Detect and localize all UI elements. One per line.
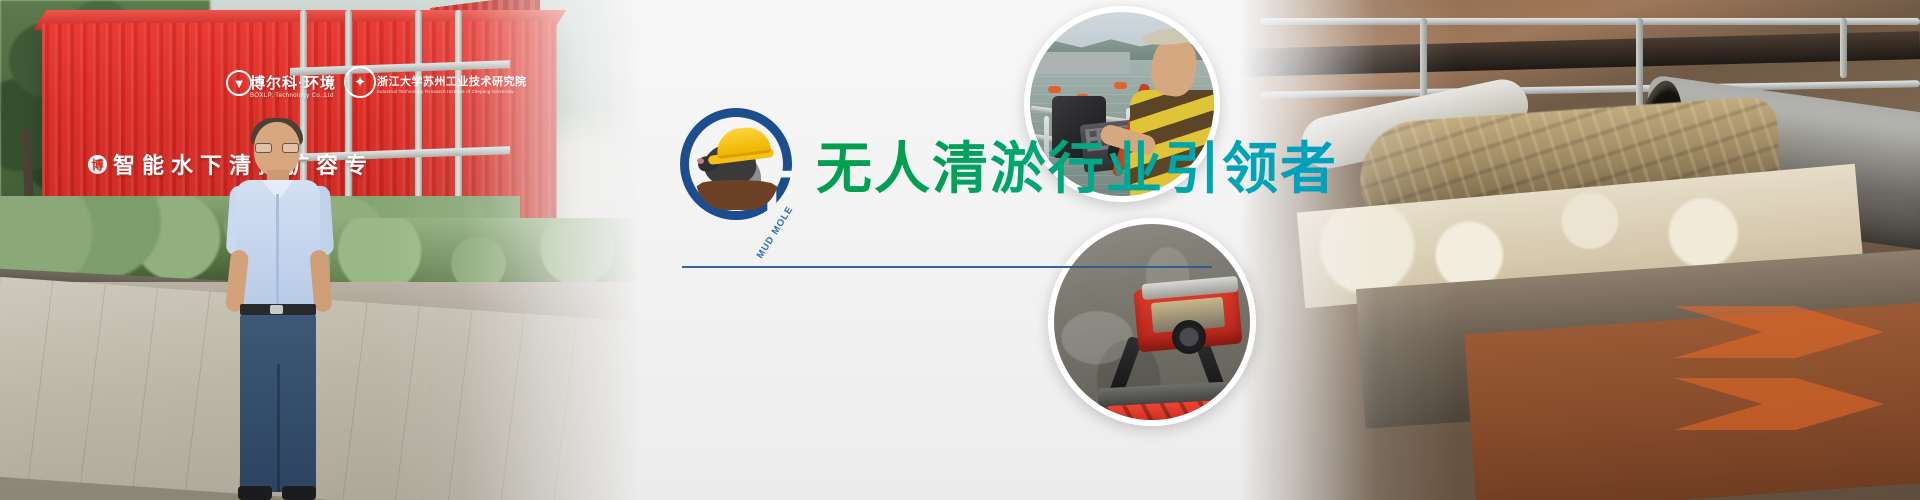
center-content: MUD MOLE 无人清淤行业引领者 [656, 0, 1276, 500]
slogan-mark-icon: 博 [88, 155, 107, 174]
mole-icon [700, 130, 772, 208]
partner-brand: 浙江大学苏州工业技术研究院 Industrial Technology Rese… [377, 73, 527, 94]
partner-brand-cn: 浙江大学苏州工业技术研究院 [377, 76, 527, 88]
person-shirt-placket [276, 194, 279, 306]
hero-banner: ▼ 博尔科·环境 BOXLP. Technology Co.,Ltd ✦ 浙江大… [0, 0, 1920, 500]
container-brand-en: BOXLP. Technology Co.,Ltd [250, 93, 336, 99]
partner-brand-en: Industrial Technology Research Institute… [377, 89, 527, 94]
person-shoe-left [238, 486, 272, 500]
container-brand: 博尔科·环境 BOXLP. Technology Co.,Ltd [250, 72, 336, 99]
handrail-post [1840, 18, 1847, 78]
headline-row: MUD MOLE 无人清淤行业引领者 [656, 108, 1276, 220]
person-figure [222, 122, 334, 500]
handrail-top [1260, 18, 1920, 25]
company-seal-icon: ▼ [226, 70, 252, 96]
container-brand-cn: 博尔科·环境 [250, 75, 336, 92]
university-seal-icon: ✦ [344, 66, 376, 98]
person-pants [240, 312, 316, 492]
page-headline: 无人清淤行业引领者 [816, 124, 1338, 205]
mud-mole-logo: MUD MOLE [680, 108, 792, 220]
background-photo-sludge-pipe [1240, 0, 1920, 500]
belt-buckle [270, 305, 283, 314]
mole-nose [697, 158, 704, 164]
person-shoe-right [282, 486, 316, 500]
handrail-post [1420, 18, 1427, 102]
headline-divider [682, 266, 1212, 268]
left-photo: ▼ 博尔科·环境 BOXLP. Technology Co.,Ltd ✦ 浙江大… [0, 0, 660, 500]
mole-dirt-mound [696, 180, 778, 210]
eyeglasses-icon [255, 143, 299, 153]
